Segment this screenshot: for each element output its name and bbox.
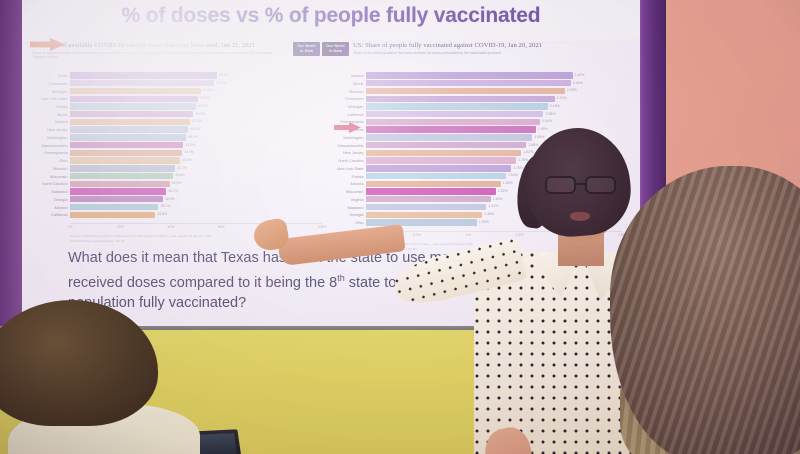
bar-category-label: Illinois <box>30 112 70 117</box>
bar <box>70 96 198 102</box>
bar <box>70 72 217 78</box>
bar-category-label: Arizona <box>30 205 70 210</box>
bar-category-label: Washington <box>322 135 366 140</box>
bar-category-label: Maryland <box>322 205 366 210</box>
owid-logo-badge-left: Our World in Data <box>293 42 320 56</box>
bar <box>70 212 155 218</box>
bar-category-label: New York State <box>30 96 70 101</box>
highlight-arrow-texas-left <box>30 38 66 51</box>
bar-category-label: Georgia <box>322 212 366 217</box>
bar-value-label: 2.42% <box>573 73 585 77</box>
bar-track: 33.8% <box>70 212 322 218</box>
bar-track: 2.40% <box>366 80 622 86</box>
bar-value-label: 45.0% <box>183 143 195 147</box>
bar-value-label: 51.8% <box>201 88 213 92</box>
bar-category-label: California <box>322 112 366 117</box>
chart-bar-row: Pennsylvania44.5% <box>30 149 322 156</box>
chart-right-title-block: US: Share of people fully vaccinated aga… <box>353 42 619 55</box>
bar-track: 51.8% <box>70 88 322 94</box>
student-foreground-right <box>610 166 800 454</box>
bar <box>366 72 573 78</box>
bar-value-label: 39.5% <box>170 181 182 185</box>
chart-bar-row: Indiana2.42% <box>322 72 622 79</box>
bar <box>70 134 186 140</box>
owid-badge-line2-r: in Data <box>322 49 349 54</box>
owid-logo-badge-right: Our World in Data <box>322 42 349 56</box>
bar-track: 46.9% <box>70 126 322 132</box>
bar-category-label: Ohio <box>30 158 70 163</box>
chart-bar-row: North Carolina39.5% <box>30 180 322 187</box>
bar-category-label: Michigan <box>322 104 366 109</box>
bar-category-label: New York State <box>322 166 366 171</box>
bar-track: 2.04% <box>366 119 622 125</box>
bar <box>70 188 166 194</box>
owid-badge-line2: in Data <box>293 49 320 54</box>
bar-track: 57.3% <box>70 80 322 86</box>
chart-left-subtitle: Share of shipped vaccine doses that have… <box>32 51 284 59</box>
chart-bar-row: Tennessee57.3% <box>30 80 322 87</box>
bar <box>366 111 543 117</box>
classroom-photo-screenshot: % of doses vs % of people fully vaccinat… <box>0 0 800 454</box>
bar-value-label: 46.1% <box>186 135 198 139</box>
axis-tick-label: 60% <box>218 225 225 229</box>
bar-category-label: Texas <box>30 73 70 78</box>
bar <box>70 181 170 187</box>
bar-track: 58.3% <box>70 72 322 78</box>
bar-track: 46.1% <box>70 134 322 140</box>
bar-value-label: 35.1% <box>158 204 170 208</box>
chart-bar-row: Massachusetts45.0% <box>30 142 322 149</box>
bar <box>366 119 540 125</box>
bar-value-label: 50.6% <box>198 96 210 100</box>
chart-bar-row: Illinois2.40% <box>322 80 622 87</box>
glasses-bridge <box>576 183 585 185</box>
bar-category-label: Florida <box>322 174 366 179</box>
chart-right-header: Our World in Data US: Share of people fu… <box>322 42 622 68</box>
bar-track: 2.13% <box>366 103 622 109</box>
bar-track: 45.0% <box>70 142 322 148</box>
highlight-arrow-texas-right <box>334 122 362 133</box>
bar <box>70 165 175 171</box>
chart-bar-row: Missouri41.7% <box>30 165 322 172</box>
bar-track: 50.0% <box>70 103 322 109</box>
bar-category-label: Missouri <box>30 166 70 171</box>
question-line-2a: received doses compared to it being the … <box>68 275 337 291</box>
bar-track: 38.2% <box>70 188 322 194</box>
bar-value-label: 57.3% <box>214 81 226 85</box>
bar-category-label: Massachusetts <box>322 143 366 148</box>
bar-category-label: Illinois <box>322 81 366 86</box>
bar <box>70 119 190 125</box>
bar-category-label: Washington <box>30 135 70 140</box>
axis-tick-label: 20% <box>117 225 124 229</box>
bar-value-label: 43.6% <box>180 158 192 162</box>
bar-category-label: Maryland <box>30 189 70 194</box>
student-foreground-left <box>0 300 202 454</box>
bar-value-label: 40.8% <box>173 173 185 177</box>
chart-right-title: US: Share of people fully vaccinated aga… <box>353 42 619 50</box>
bar-category-label: Tennessee <box>30 81 70 86</box>
bar-value-label: 48.9% <box>193 112 205 116</box>
bar-category-label: Pennsylvania <box>30 150 70 155</box>
bar-track: 47.6% <box>70 119 322 125</box>
student-left-hair <box>0 300 158 426</box>
bar-category-label: Georgia <box>30 197 70 202</box>
bar <box>366 80 571 86</box>
chart-bar-row: Michigan2.13% <box>322 103 622 110</box>
chart-bar-row: Maryland38.2% <box>30 188 322 195</box>
bar <box>70 111 193 117</box>
bar-category-label: Wisconsin <box>30 174 70 179</box>
bar-track: 2.33% <box>366 88 622 94</box>
bar-value-label: 2.21% <box>555 96 567 100</box>
bar <box>70 150 182 156</box>
bar-value-label: 41.7% <box>175 166 187 170</box>
chart-bar-row: Indiana47.6% <box>30 118 322 125</box>
bar <box>70 126 188 132</box>
axis-tick-label: 40% <box>167 225 174 229</box>
bar-category-label: Missouri <box>322 89 366 94</box>
bar-track: 44.5% <box>70 150 322 156</box>
bar <box>70 173 173 179</box>
bar-category-label: Arizona <box>322 181 366 186</box>
bar-category-label: Florida <box>30 104 70 109</box>
axis-tick-label: 0% <box>67 225 72 229</box>
bar-track: 36.9% <box>70 196 322 202</box>
bar-value-label: 58.3% <box>217 73 229 77</box>
bar-track: 41.7% <box>70 165 322 171</box>
question-ordinal-suffix: th <box>337 273 345 283</box>
bar <box>70 157 180 163</box>
bar-value-label: 50.0% <box>196 104 208 108</box>
chart-left-doses-used: US: Share of available COVID-19 vaccine … <box>30 42 322 242</box>
chart-right-subtitle: Share of the total population that have … <box>353 51 619 55</box>
bar <box>70 80 214 86</box>
bar-value-label: 47.6% <box>190 119 202 123</box>
chart-bar-row: Michigan51.8% <box>30 87 322 94</box>
glasses-lens-left <box>545 176 576 194</box>
chart-left-title-block: US: Share of available COVID-19 vaccine … <box>32 42 284 60</box>
bar-category-label: Michigan <box>30 89 70 94</box>
bar <box>70 103 196 109</box>
chart-bar-row: Texas58.3% <box>30 72 322 79</box>
chart-bar-row: Arizona35.1% <box>30 203 322 210</box>
bar-value-label: 2.04% <box>540 119 552 123</box>
bar-category-label: Indiana <box>30 119 70 124</box>
presenter-mouth <box>570 212 590 221</box>
bar-category-label: New Jersey <box>30 127 70 132</box>
bar-category-label: Massachusetts <box>30 143 70 148</box>
bar-track: 48.9% <box>70 111 322 117</box>
chart-bar-row: Ohio43.6% <box>30 157 322 164</box>
chart-bar-row: Missouri2.33% <box>322 87 622 94</box>
chart-bar-row: Wisconsin40.8% <box>30 173 322 180</box>
bar-track: 2.21% <box>366 96 622 102</box>
chart-bar-row: New York State50.6% <box>30 95 322 102</box>
bar-category-label: North Carolina <box>322 158 366 163</box>
bar <box>366 103 548 109</box>
chart-bar-row: Tennessee2.21% <box>322 95 622 102</box>
bar-value-label: 46.9% <box>188 127 200 131</box>
bar-value-label: 44.5% <box>182 150 194 154</box>
chart-bar-row: Illinois48.9% <box>30 111 322 118</box>
bar-value-label: 2.40% <box>571 81 583 85</box>
bar-track: 35.1% <box>70 204 322 210</box>
bar-value-label: 2.13% <box>548 104 560 108</box>
bar <box>70 204 158 210</box>
bar <box>70 142 183 148</box>
chart-bar-row: Pennsylvania2.04% <box>322 118 622 125</box>
chart-left-title: US: Share of available COVID-19 vaccine … <box>32 42 284 50</box>
bar-value-label: 36.9% <box>163 197 175 201</box>
bar-track: 40.8% <box>70 173 322 179</box>
bar-category-label: New Jersey <box>322 150 366 155</box>
chart-bar-row: California33.8% <box>30 211 322 218</box>
bar-category-label: California <box>30 212 70 217</box>
bar <box>366 88 565 94</box>
bar-category-label: Tennessee <box>322 96 366 101</box>
bar <box>366 96 555 102</box>
student-right-hair <box>610 166 800 454</box>
bar <box>70 196 163 202</box>
chart-bar-row: Georgia36.9% <box>30 196 322 203</box>
bar-track: 2.08% <box>366 111 622 117</box>
bar-value-label: 38.2% <box>166 189 178 193</box>
chart-bar-row: California2.08% <box>322 111 622 118</box>
bar <box>70 88 201 94</box>
bar-category-label: Ohio <box>322 220 366 225</box>
slide-title: % of doses vs % of people fully vaccinat… <box>22 4 640 28</box>
bar-category-label: Wisconsin <box>322 189 366 194</box>
bar-value-label: 33.8% <box>155 212 167 216</box>
bar-category-label: Virginia <box>322 197 366 202</box>
chart-bar-row: Florida50.0% <box>30 103 322 110</box>
bar-value-label: 2.33% <box>565 88 577 92</box>
bar-track: 2.42% <box>366 72 622 78</box>
bar-track: 39.5% <box>70 181 322 187</box>
chart-left-plot: Texas58.3%Tennessee57.3%Michigan51.8%New… <box>30 72 322 219</box>
chart-left-header: US: Share of available COVID-19 vaccine … <box>30 42 322 68</box>
bar-category-label: Indiana <box>322 73 366 78</box>
chart-bar-row: New Jersey46.9% <box>30 126 322 133</box>
chart-bar-row: Washington46.1% <box>30 134 322 141</box>
bar-track: 43.6% <box>70 157 322 163</box>
bar-category-label: North Carolina <box>30 181 70 186</box>
bar-value-label: 2.08% <box>543 112 555 116</box>
bar-track: 50.6% <box>70 96 322 102</box>
